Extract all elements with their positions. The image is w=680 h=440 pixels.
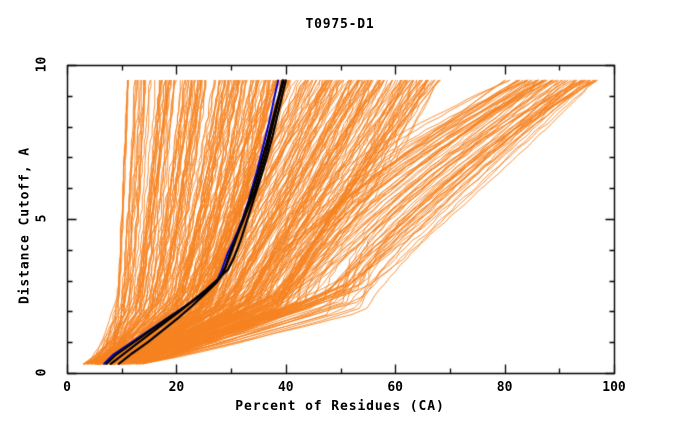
x-tick-label: 20 — [156, 380, 196, 395]
plot-figure: T0975-D1 Percent of Residues (CA) Distan… — [0, 0, 680, 440]
x-axis-label: Percent of Residues (CA) — [0, 399, 680, 414]
y-tick-label: 0 — [35, 360, 50, 386]
x-tick-label: 0 — [47, 380, 87, 395]
distance-cutoff-plot-canvas — [0, 0, 680, 440]
x-tick-label: 40 — [266, 380, 306, 395]
x-tick-label: 60 — [375, 380, 415, 395]
y-axis-label: Distance Cutoff, A — [18, 126, 33, 326]
x-tick-label: 100 — [594, 380, 634, 395]
y-tick-label: 10 — [35, 52, 50, 78]
y-tick-label: 5 — [35, 206, 50, 232]
page-title: T0975-D1 — [0, 17, 680, 32]
x-tick-label: 80 — [485, 380, 525, 395]
